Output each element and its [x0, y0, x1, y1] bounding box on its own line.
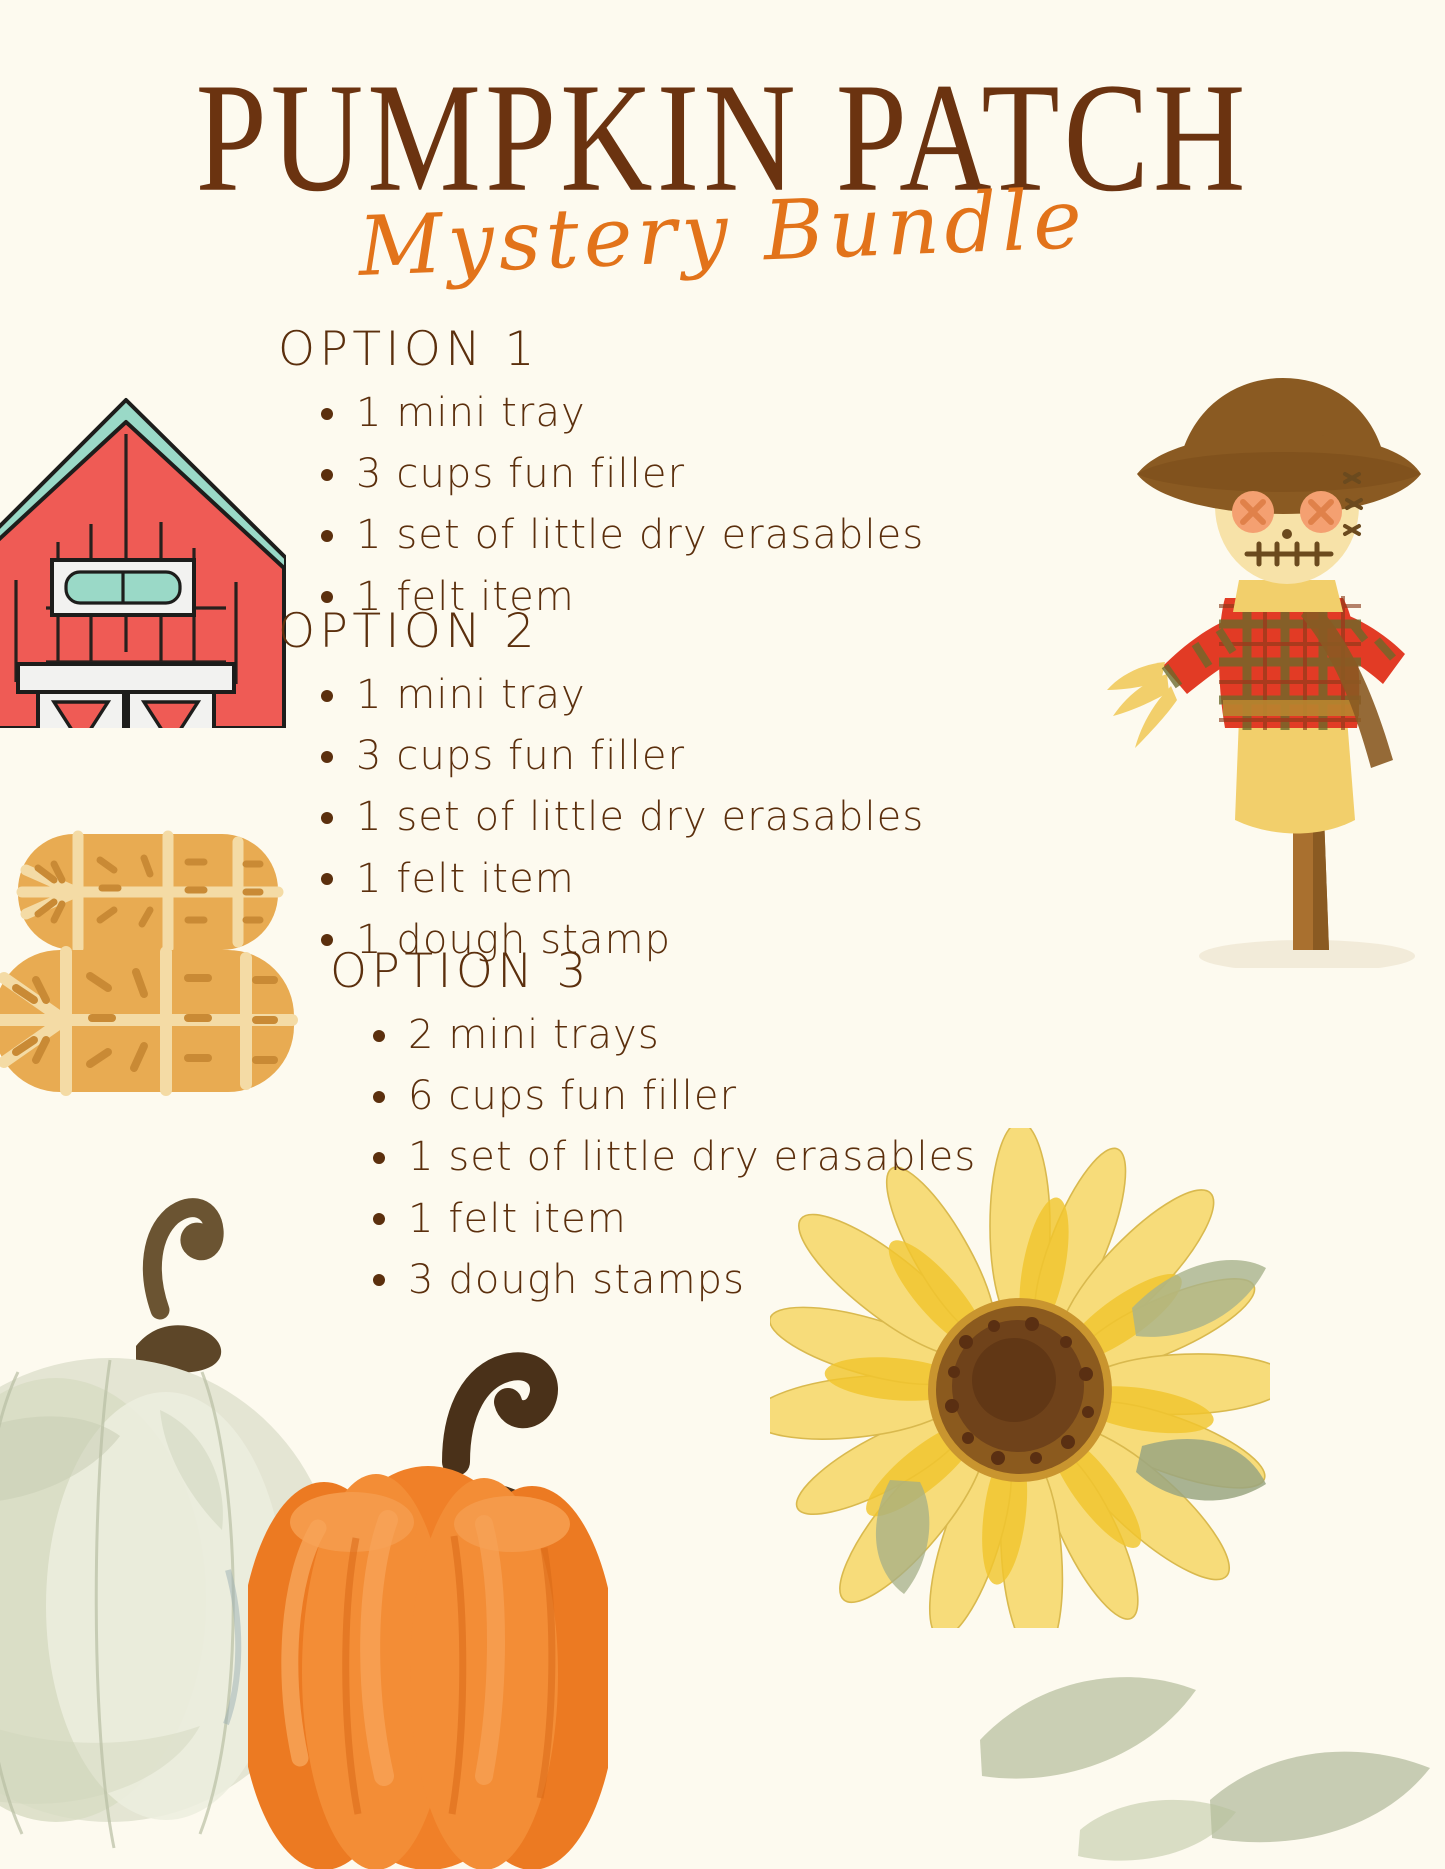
- greenery-illustration: [960, 1500, 1445, 1869]
- list-item: 1 mini tray: [310, 383, 924, 444]
- list-item: 1 felt item: [362, 1189, 976, 1250]
- list-item: 1 set of little dry erasables: [310, 787, 924, 848]
- option-3-heading: OPTION 3: [330, 944, 976, 999]
- poster-canvas: PUMPKIN PATCH Mystery Bundle OPTION 1 1 …: [0, 0, 1445, 1869]
- list-item: 1 set of little dry erasables: [362, 1127, 976, 1188]
- list-item: 1 felt item: [310, 849, 924, 910]
- list-item: 1 mini tray: [310, 665, 924, 726]
- option-2-list: 1 mini tray 3 cups fun filler 1 set of l…: [278, 665, 924, 971]
- barn-illustration: [0, 372, 286, 728]
- list-item: 1 set of little dry erasables: [310, 505, 924, 566]
- list-item: 3 cups fun filler: [310, 444, 924, 505]
- option-1-list: 1 mini tray 3 cups fun filler 1 set of l…: [278, 383, 924, 628]
- option-block-2: OPTION 2 1 mini tray 3 cups fun filler 1…: [278, 604, 924, 971]
- option-2-heading: OPTION 2: [278, 604, 924, 659]
- option-3-list: 2 mini trays 6 cups fun filler 1 set of …: [330, 1005, 976, 1311]
- option-1-heading: OPTION 1: [278, 322, 924, 377]
- option-block-1: OPTION 1 1 mini tray 3 cups fun filler 1…: [278, 322, 924, 628]
- scarecrow-illustration: [1107, 368, 1427, 968]
- orange-pumpkin-illustration: [248, 1290, 608, 1869]
- list-item: 3 dough stamps: [362, 1250, 976, 1311]
- list-item: 3 cups fun filler: [310, 726, 924, 787]
- list-item: 6 cups fun filler: [362, 1066, 976, 1127]
- list-item: 2 mini trays: [362, 1005, 976, 1066]
- option-block-3: OPTION 3 2 mini trays 6 cups fun filler …: [330, 944, 976, 1311]
